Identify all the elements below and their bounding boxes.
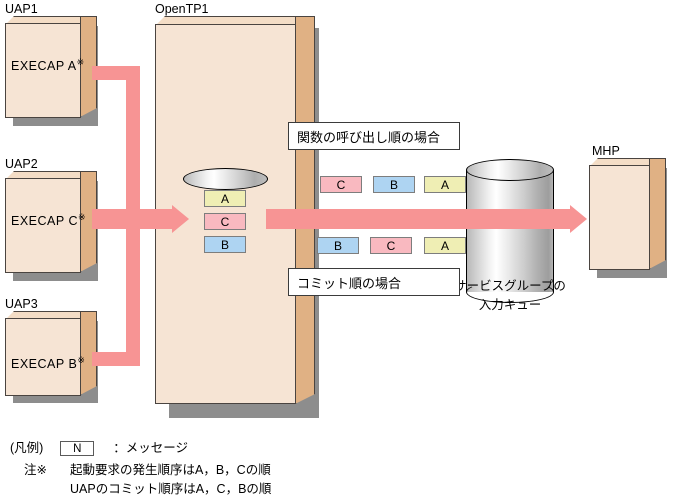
note-line-1: 起動要求の発生順序はA，B，Cの順 [70, 459, 271, 478]
uap3-label: UAP3 [5, 297, 38, 311]
connector-stub-uap1 [92, 66, 140, 80]
uap3-body-label: EXECAP B [11, 357, 77, 371]
legend-row: (凡例) N ：メッセージ [10, 437, 188, 456]
opentp1-label: OpenTP1 [155, 2, 209, 16]
input-queue-cylinder-body [466, 170, 554, 292]
arrow-to-output-queue-shaft [126, 209, 172, 229]
mhp-side-face [649, 158, 666, 269]
uap2-body-text: EXECAP C※ [11, 212, 86, 228]
input-queue-cylinder-bottom [466, 281, 554, 303]
connector-stub-uap3 [92, 352, 140, 366]
mhp-label: MHP [592, 144, 620, 158]
uap2-label: UAP2 [5, 157, 38, 171]
output-queue-message-2: B [204, 236, 246, 253]
commit-order-chip-0: B [317, 237, 359, 254]
input-queue-cylinder-top [466, 159, 554, 181]
legend-meaning: ：メッセージ [113, 441, 188, 455]
uap3-footnote-mark: ※ [77, 355, 85, 365]
uap1-body-label: EXECAP A [11, 59, 77, 73]
arrow-to-mhp-head [570, 205, 587, 233]
note-line-2: UAPのコミット順序はA，C，Bの順 [70, 478, 271, 497]
note-marker: 注※ [24, 459, 47, 478]
commit-order-chip-2: A [424, 237, 466, 254]
mhp-front-face [589, 165, 650, 270]
uap1-label: UAP1 [5, 2, 38, 16]
uap2-body-label: EXECAP C [11, 214, 78, 228]
callout-commit-order: コミット順の場合 [288, 268, 460, 296]
diagram-canvas: OpenTP1 UAP1 EXECAP A※ UAP2 EXECAP C※ UA… [0, 0, 680, 497]
function-order-chip-0: C [320, 176, 362, 193]
arrow-to-mhp-shaft [266, 209, 570, 229]
uap2-footnote-mark: ※ [78, 212, 86, 222]
legend-message-chip: N [60, 441, 94, 456]
output-queue-cylinder-top [183, 168, 268, 190]
arrow-to-output-queue-head [172, 205, 189, 233]
legend-title: (凡例) [10, 441, 43, 455]
uap1-body-text: EXECAP A※ [11, 57, 85, 73]
uap1-footnote-mark: ※ [77, 57, 85, 67]
function-order-chip-1: B [373, 176, 415, 193]
function-order-chip-2: A [424, 176, 466, 193]
output-queue-message-1: C [204, 213, 246, 230]
output-queue-message-0: A [204, 190, 246, 207]
commit-order-chip-1: C [370, 237, 412, 254]
uap3-body-text: EXECAP B※ [11, 355, 85, 371]
callout-function-order: 関数の呼び出し順の場合 [288, 122, 460, 150]
